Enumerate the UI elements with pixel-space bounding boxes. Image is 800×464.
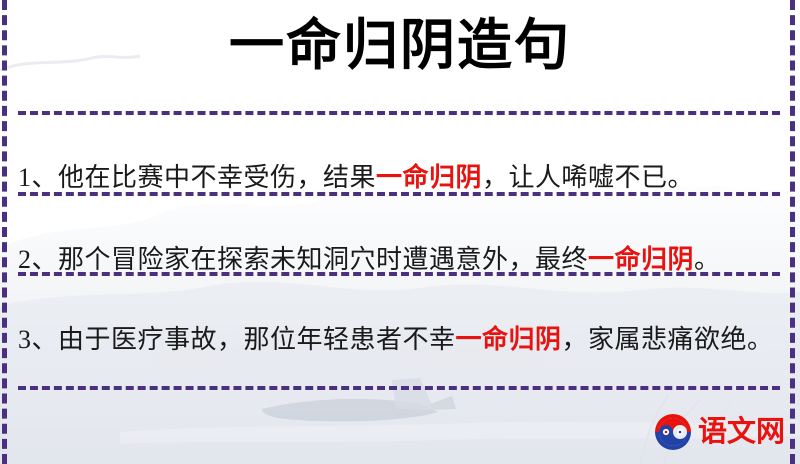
sentence-item: 3、由于医疗事故，那位年轻患者不幸一命归阴，家属悲痛欲绝。 <box>18 318 780 362</box>
sentence-number: 1、 <box>18 163 58 192</box>
keyword-highlight: 一命归阴 <box>376 163 482 192</box>
sentence-text-before: 由于医疗事故，那位年轻患者不幸 <box>58 325 456 354</box>
divider-1 <box>18 111 780 115</box>
sentence-text-before: 那个冒险家在探索未知洞穴时遭遇意外，最终 <box>58 245 588 274</box>
page-title: 一命归阴造句 <box>229 12 571 81</box>
title-container: 一命归阴造句 <box>0 12 800 81</box>
site-logo-text: 语文网 <box>698 418 785 447</box>
sentence-number: 2、 <box>18 245 58 274</box>
sentence-number: 3、 <box>18 325 58 354</box>
page-root: 一命归阴造句 1、他在比赛中不幸受伤，结果一命归阴，让人唏嘘不已。 2、那个冒险… <box>0 0 800 464</box>
yinyang-circle-icon <box>653 412 693 452</box>
keyword-highlight: 一命归阴 <box>588 245 694 274</box>
sentence-item: 1、他在比赛中不幸受伤，结果一命归阴，让人唏嘘不已。 <box>18 156 780 200</box>
sentence-text-after: ，让人唏嘘不已。 <box>482 163 694 192</box>
sentence-text-before: 他在比赛中不幸受伤，结果 <box>58 163 376 192</box>
divider-4 <box>18 386 780 390</box>
sentence-item: 2、那个冒险家在探索未知洞穴时遭遇意外，最终一命归阴。 <box>18 238 780 282</box>
sentence-text-after: 。 <box>694 245 721 274</box>
sentence-text-after: ，家属悲痛欲绝。 <box>562 325 774 354</box>
keyword-highlight: 一命归阴 <box>456 325 562 354</box>
site-logo[interactable]: 语文网 <box>653 412 785 452</box>
